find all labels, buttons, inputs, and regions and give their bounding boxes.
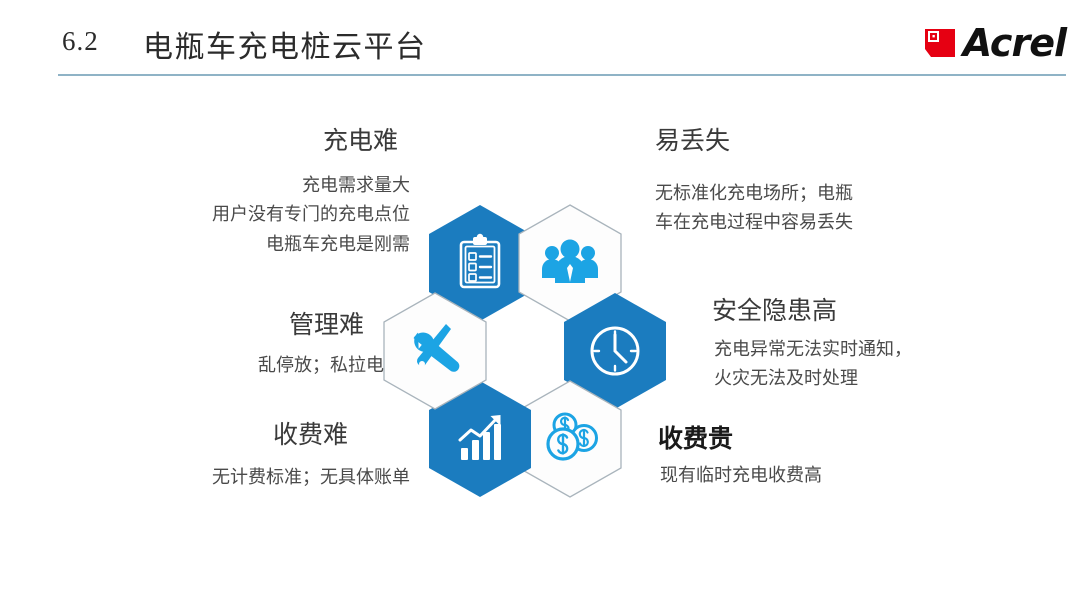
block-fee-expensive: 收费贵 现有临时充电收费高 xyxy=(658,424,1018,490)
block-heading: 管理难 xyxy=(70,310,364,341)
block-line: 无计费标准；无具体账单 xyxy=(60,463,410,492)
block-line: 乱停放；私拉电线 xyxy=(70,351,402,380)
block-line: 火灾无法及时处理 xyxy=(714,364,1072,393)
header-divider xyxy=(58,74,1066,76)
slide-header: 6.2 电瓶车充电桩云平台 Acrel xyxy=(0,0,1080,80)
block-management-difficulty: 管理难 乱停放；私拉电线 xyxy=(70,310,410,380)
block-body: 现有临时充电收费高 xyxy=(660,461,1018,490)
block-heading: 收费贵 xyxy=(658,424,1018,455)
hexagon-cluster-diagram xyxy=(378,196,678,496)
block-heading: 收费难 xyxy=(60,420,348,451)
brand-logo: Acrel xyxy=(923,22,1066,64)
block-line: 电瓶车充电是刚需 xyxy=(70,230,410,259)
block-line: 现有临时充电收费高 xyxy=(660,461,1018,490)
block-line: 充电异常无法实时通知， xyxy=(714,335,1072,364)
hex-cell-tools[interactable] xyxy=(383,292,487,410)
block-body: 充电需求量大 用户没有专门的充电点位 电瓶车充电是刚需 xyxy=(70,171,410,258)
block-line: 充电需求量大 xyxy=(70,171,410,200)
acrel-logo-mark-icon xyxy=(923,27,957,59)
block-body: 无标准化充电场所；电瓶 车在充电过程中容易丢失 xyxy=(655,179,1035,237)
block-line: 车在充电过程中容易丢失 xyxy=(655,208,1035,237)
block-fee-difficulty: 收费难 无计费标准；无具体账单 xyxy=(60,420,410,492)
title-number: 6.2 xyxy=(62,26,99,57)
clock-icon xyxy=(592,328,638,374)
block-body: 充电异常无法实时通知， 火灾无法及时处理 xyxy=(714,335,1072,393)
block-charging-difficulty: 充电难 充电需求量大 用户没有专门的充电点位 电瓶车充电是刚需 xyxy=(70,126,410,259)
block-heading: 安全隐患高 xyxy=(712,296,1072,327)
block-body: 无计费标准；无具体账单 xyxy=(60,463,410,492)
block-easy-loss: 易丢失 无标准化充电场所；电瓶 车在充电过程中容易丢失 xyxy=(655,126,1035,238)
hex-cell-money[interactable] xyxy=(518,380,622,498)
block-safety-hazard: 安全隐患高 充电异常无法实时通知， 火灾无法及时处理 xyxy=(712,296,1072,394)
page-title: 电瓶车充电桩云平台 xyxy=(143,22,427,66)
block-body: 乱停放；私拉电线 xyxy=(70,351,402,380)
block-heading: 易丢失 xyxy=(655,126,1035,157)
block-heading: 充电难 xyxy=(70,126,398,157)
block-line: 用户没有专门的充电点位 xyxy=(70,200,410,229)
brand-wordmark: Acrel xyxy=(963,24,1066,62)
block-line: 无标准化充电场所；电瓶 xyxy=(655,179,1035,208)
